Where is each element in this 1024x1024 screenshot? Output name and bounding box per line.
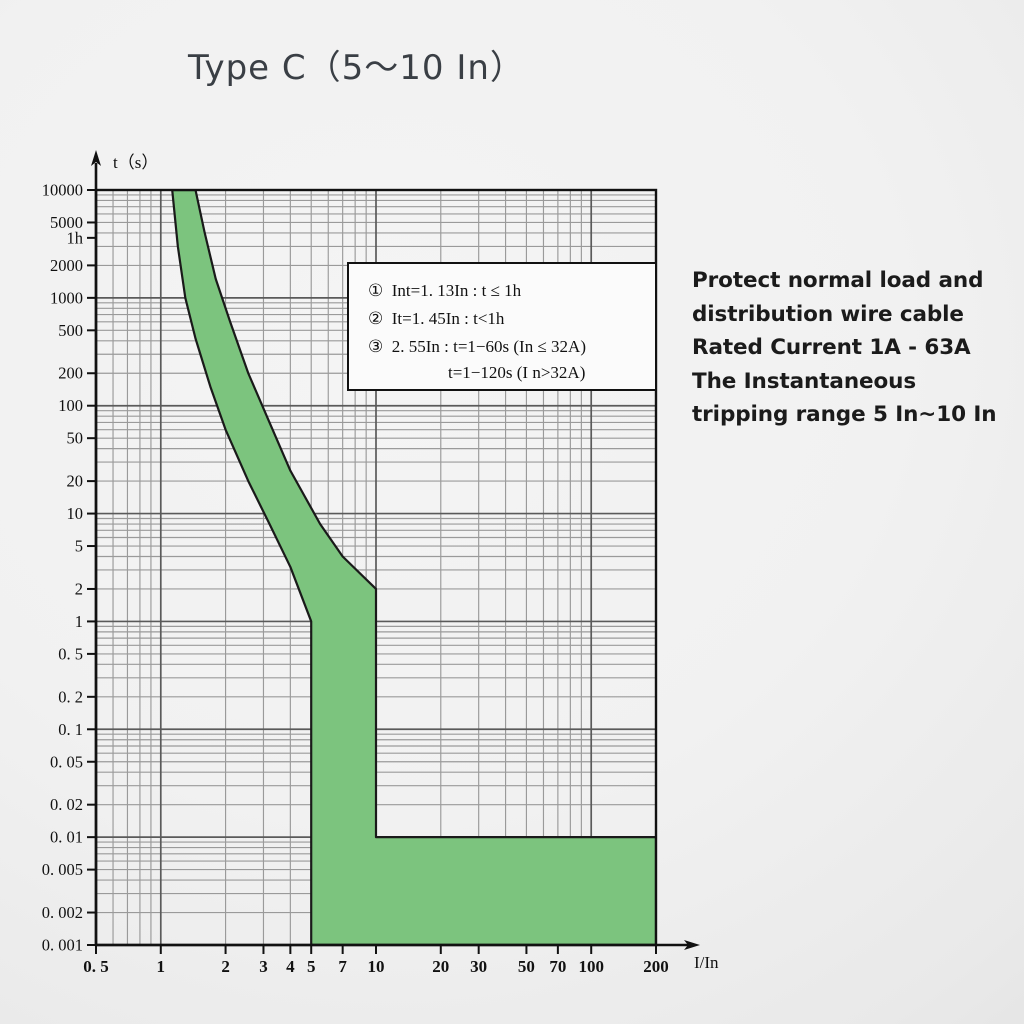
y-tick-label: 0. 1 bbox=[58, 720, 83, 739]
description-text: Protect normal load and distribution wir… bbox=[692, 264, 1012, 432]
y-tick-label: 10 bbox=[67, 504, 84, 523]
y-tick-label: 0. 01 bbox=[50, 828, 83, 847]
x-tick-label: 5 bbox=[307, 957, 316, 976]
x-tick-label: 50 bbox=[518, 957, 535, 976]
y-tick-label: 1 bbox=[75, 612, 83, 631]
y-tick-label: 10000 bbox=[42, 181, 83, 200]
trip-curve-chart: t（s） I/In 1000050001h2000100050020010050… bbox=[0, 0, 1024, 1024]
y-axis-label: t（s） bbox=[113, 153, 158, 172]
y-tick-label: 0. 2 bbox=[58, 687, 83, 706]
y-tick-label: 2000 bbox=[50, 256, 83, 275]
y-tick-label: 50 bbox=[67, 429, 84, 448]
x-tick-label: 10 bbox=[368, 957, 385, 976]
x-tick-label: 30 bbox=[470, 957, 487, 976]
y-axis: t（s） bbox=[91, 150, 158, 945]
y-tick-label: 0. 05 bbox=[50, 752, 83, 771]
y-tick-label: 0. 02 bbox=[50, 795, 83, 814]
description-line-2: distribution wire cable bbox=[692, 298, 1012, 332]
y-tick-label: 0. 005 bbox=[42, 860, 83, 879]
x-tick-label: 70 bbox=[549, 957, 566, 976]
description-line-3: Rated Current 1A - 63A bbox=[692, 331, 1012, 365]
x-tick-label: 200 bbox=[643, 957, 669, 976]
x-axis: I/In bbox=[96, 940, 719, 972]
y-tick-label: 1h bbox=[67, 228, 84, 247]
y-tick-label: 100 bbox=[58, 396, 83, 415]
x-tick-label: 100 bbox=[578, 957, 604, 976]
y-tick-label: 200 bbox=[58, 364, 83, 383]
y-tick-label: 0. 5 bbox=[58, 644, 83, 663]
y-axis-ticks: 1000050001h200010005002001005020105210. … bbox=[42, 181, 96, 955]
description-line-1: Protect normal load and bbox=[692, 264, 1012, 298]
x-tick-label: 2 bbox=[221, 957, 230, 976]
legend-line-2: ② It=1. 45In : t<1h bbox=[368, 309, 505, 328]
y-tick-label: 1000 bbox=[50, 288, 83, 307]
x-tick-label: 0. 5 bbox=[83, 957, 109, 976]
description-line-5: tripping range 5 In~10 In bbox=[692, 398, 1012, 432]
legend-box: ① Int=1. 13In : t ≤ 1h ② It=1. 45In : t<… bbox=[348, 263, 656, 390]
description-line-4: The Instantaneous bbox=[692, 365, 1012, 399]
y-tick-label: 2 bbox=[75, 579, 83, 598]
legend-line-1: ① Int=1. 13In : t ≤ 1h bbox=[368, 281, 522, 300]
legend-line-3: ③ 2. 55In : t=1−60s (In ≤ 32A) bbox=[368, 337, 586, 356]
y-tick-label: 5 bbox=[75, 537, 83, 556]
y-tick-label: 0. 002 bbox=[42, 903, 83, 922]
y-tick-label: 20 bbox=[67, 472, 84, 491]
x-tick-label: 7 bbox=[338, 957, 347, 976]
x-tick-label: 3 bbox=[259, 957, 268, 976]
x-axis-ticks: 0. 51234571020305070100200 bbox=[83, 945, 669, 976]
x-tick-label: 1 bbox=[157, 957, 166, 976]
x-tick-label: 20 bbox=[432, 957, 449, 976]
x-tick-label: 4 bbox=[286, 957, 295, 976]
y-tick-label: 500 bbox=[58, 321, 83, 340]
legend-line-4: t=1−120s (I n>32A) bbox=[448, 363, 585, 382]
y-tick-label: 0. 001 bbox=[42, 936, 83, 955]
x-axis-label: I/In bbox=[694, 953, 719, 972]
